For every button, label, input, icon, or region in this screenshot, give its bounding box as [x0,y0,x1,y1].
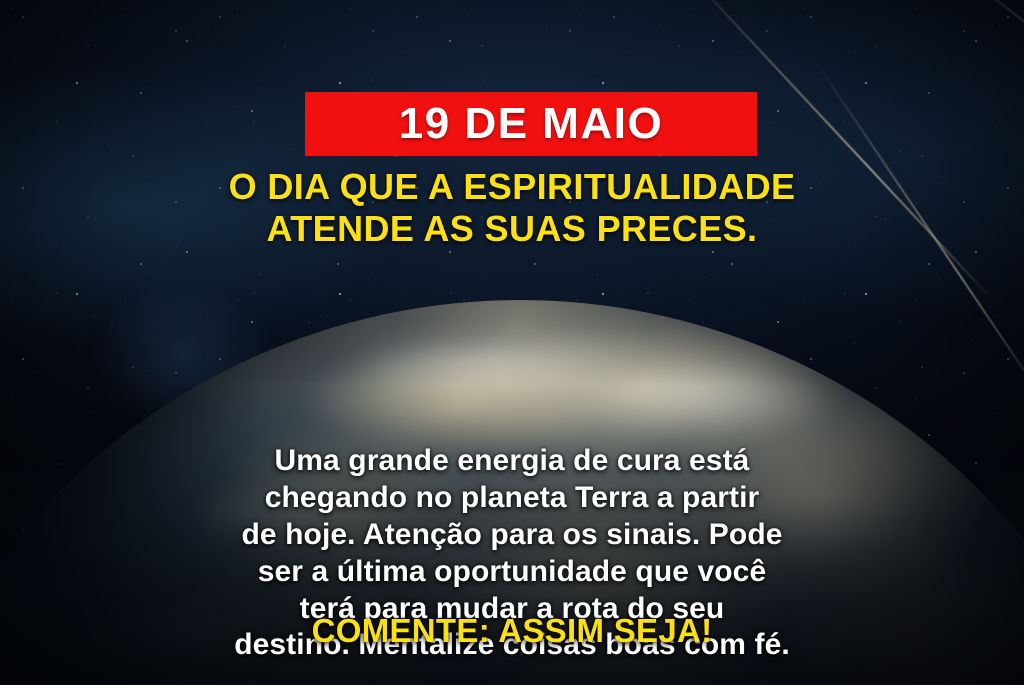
cta-label: COMENTE: ASSIM SEJA! [312,612,713,649]
page-title: O DIA QUE A ESPIRITUALIDADE ATENDE AS SU… [0,166,1024,250]
body-line-1: Uma grande energia de cura está [52,443,972,480]
poster-content: 19 DE MAIO O DIA QUE A ESPIRITUALIDADE A… [0,0,1024,685]
call-to-action: COMENTE: ASSIM SEJA! [0,612,1024,650]
date-banner: 19 DE MAIO [305,92,757,156]
body-line-4: ser a última oportunidade que você [52,554,972,591]
body-line-3: de hoje. Atenção para os sinais. Pode [52,517,972,554]
headline-line-2: ATENDE AS SUAS PRECES. [0,208,1024,250]
poster-canvas: 19 DE MAIO O DIA QUE A ESPIRITUALIDADE A… [0,0,1024,685]
date-banner-label: 19 DE MAIO [399,102,663,146]
headline-line-1: O DIA QUE A ESPIRITUALIDADE [0,166,1024,208]
body-line-2: chegando no planeta Terra a partir [52,480,972,517]
